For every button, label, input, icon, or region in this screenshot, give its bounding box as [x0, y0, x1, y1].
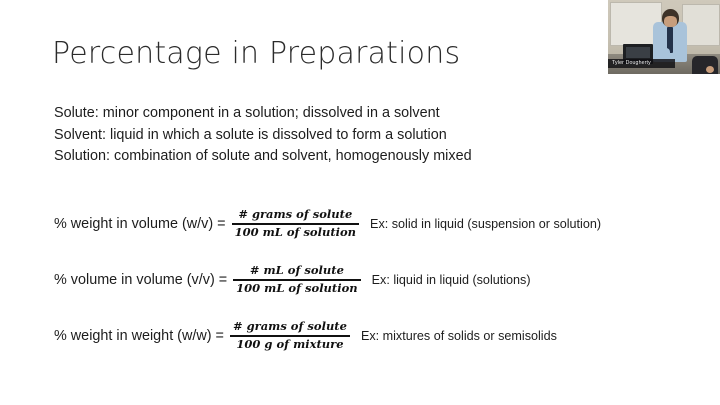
formula-row-weight-in-weight: % weight in weight (w/w) = # grams of so… — [54, 308, 694, 364]
formula-example: Ex: liquid in liquid (solutions) — [363, 273, 531, 287]
presenter-face — [664, 16, 677, 27]
definition-list: Solute: minor component in a solution; d… — [54, 103, 614, 168]
definition-solvent: Solvent: liquid in which a solute is dis… — [54, 125, 614, 147]
formula-list: % weight in volume (w/v) = # grams of so… — [54, 196, 694, 364]
fraction-numerator: # mL of solute — [247, 264, 347, 278]
definition-solution: Solution: combination of solute and solv… — [54, 146, 614, 168]
formula-row-volume-in-volume: % volume in volume (v/v) = # mL of solut… — [54, 252, 694, 308]
formula-label: % weight in volume (w/v) = — [54, 216, 230, 232]
formula-label: % weight in weight (w/w) = — [54, 328, 228, 344]
presenter-name-label: Tyler Dougherty — [608, 59, 675, 68]
fraction-numerator: # grams of solute — [235, 208, 355, 222]
formula-example: Ex: solid in liquid (suspension or solut… — [361, 217, 601, 231]
formula-example: Ex: mixtures of solids or semisolids — [352, 329, 557, 343]
audience-hand — [706, 66, 714, 73]
fraction-denominator: 100 mL of solution — [233, 282, 360, 296]
presenter-arm — [650, 48, 670, 58]
fraction-weight-in-weight: # grams of solute 100 g of mixture — [228, 320, 352, 352]
formula-label: % volume in volume (v/v) = — [54, 272, 231, 288]
fraction-volume-in-volume: # mL of solute 100 mL of solution — [231, 264, 362, 296]
definition-solute: Solute: minor component in a solution; d… — [54, 103, 614, 125]
formula-row-weight-in-volume: % weight in volume (w/v) = # grams of so… — [54, 196, 694, 252]
fraction-denominator: 100 mL of solution — [232, 226, 359, 240]
webcam-video-overlay[interactable]: Tyler Dougherty — [608, 0, 720, 74]
fraction-numerator: # grams of solute — [230, 320, 350, 334]
page-title: Percentage in Preparations — [52, 36, 460, 71]
chair — [692, 56, 718, 74]
fraction-denominator: 100 g of mixture — [233, 338, 346, 352]
fraction-weight-in-volume: # grams of solute 100 mL of solution — [230, 208, 361, 240]
whiteboard-right — [682, 4, 720, 46]
presentation-slide: Percentage in Preparations Solute: minor… — [0, 0, 720, 405]
